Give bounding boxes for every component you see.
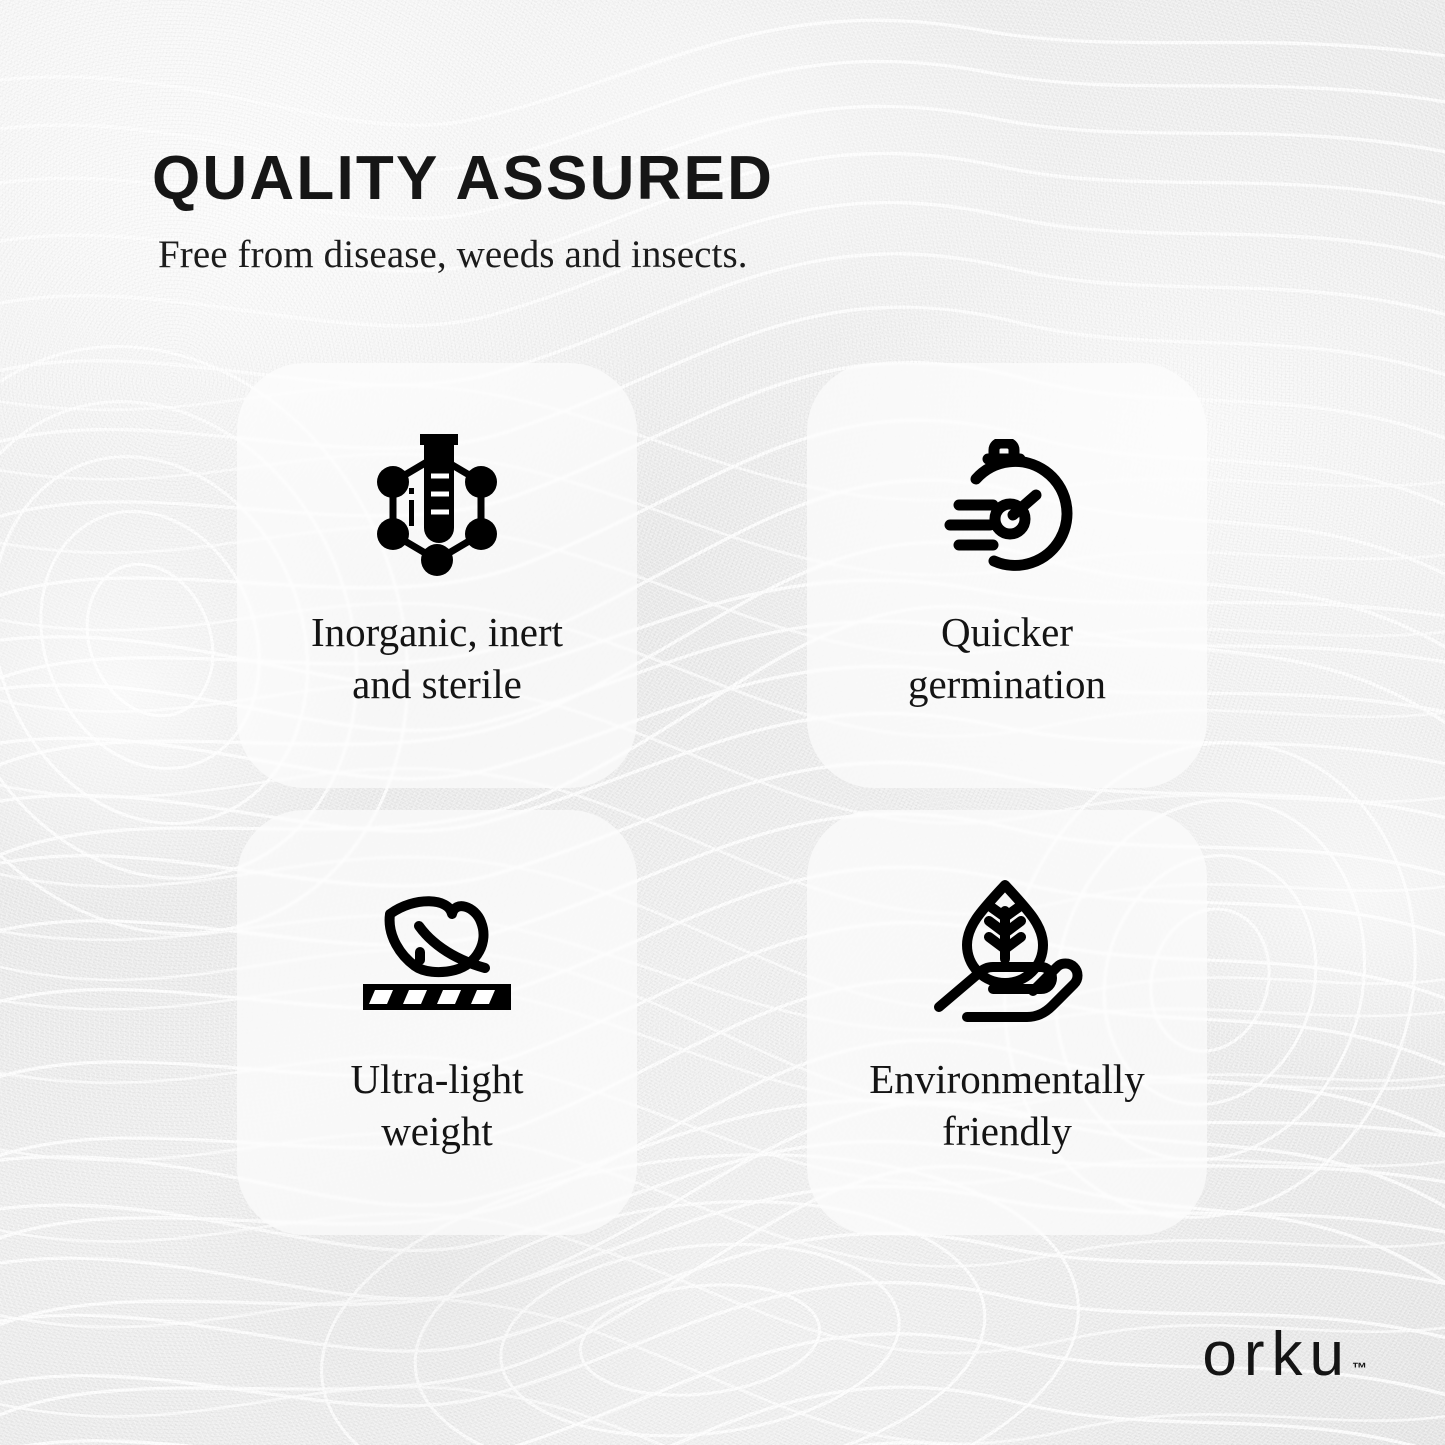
logo-wordmark: orku (1202, 1327, 1351, 1383)
infographic-canvas: QUALITY ASSURED Free from disease, weeds… (0, 0, 1445, 1445)
molecule-test-tube-icon (369, 407, 505, 602)
feature-label: Ultra-light weight (332, 1053, 541, 1158)
feature-label: Quicker germination (890, 606, 1124, 711)
feature-card-quicker-germination[interactable]: Quicker germination (807, 363, 1207, 788)
feature-card-ultra-light[interactable]: Ultra-light weight (237, 810, 637, 1235)
feature-card-environmentally-friendly[interactable]: Environmentally friendly (807, 810, 1207, 1235)
feature-label: Environmentally friendly (851, 1053, 1163, 1158)
feature-card-inorganic[interactable]: Inorganic, inert and sterile (237, 363, 637, 788)
brand-logo: orku ™ (1202, 1327, 1367, 1383)
hand-holding-leaf-icon (923, 854, 1091, 1049)
feature-card-grid: Inorganic, inert and sterile (237, 363, 1207, 1235)
feature-label: Inorganic, inert and sterile (293, 606, 581, 711)
page-title: QUALITY ASSURED (152, 146, 774, 211)
trademark-symbol: ™ (1352, 1360, 1367, 1377)
feather-on-plank-icon (357, 854, 517, 1049)
page-subtitle: Free from disease, weeds and insects. (158, 232, 748, 277)
fast-stopwatch-icon (932, 407, 1082, 602)
